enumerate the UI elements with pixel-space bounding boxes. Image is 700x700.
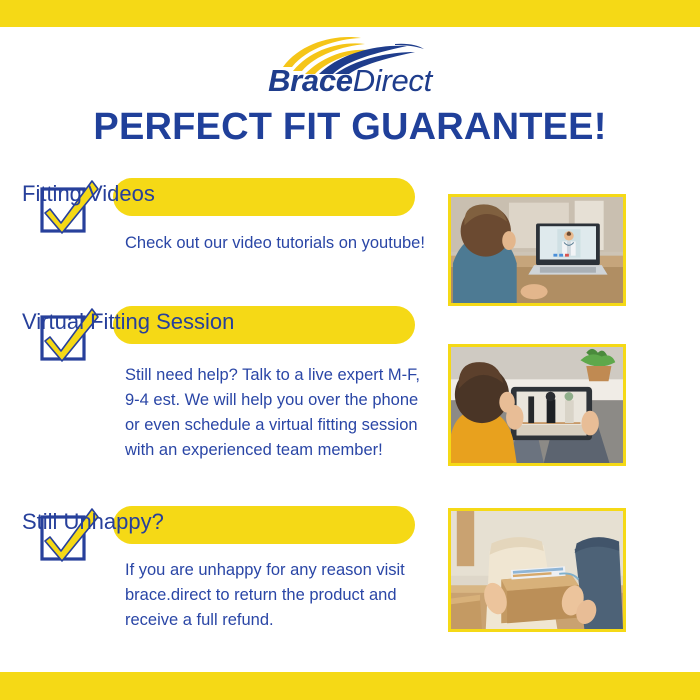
brand-wordmark: BraceDirect (0, 65, 700, 96)
section-body-text: Still need help? Talk to a live expert M… (125, 363, 435, 463)
brand-logo: BraceDirect (0, 34, 700, 96)
section-heading-label: Virtual Fitting Session (22, 309, 234, 335)
poster-canvas: BraceDirect PERFECT FIT GUARANTEE! Fitti… (0, 0, 700, 700)
brand-word-direct: Direct (353, 63, 432, 98)
section-heading-pill (113, 178, 415, 216)
photo-virtual-fitting-session (448, 344, 626, 466)
section-body-text: If you are unhappy for any reason visit … (125, 558, 435, 633)
page-title: PERFECT FIT GUARANTEE! (0, 108, 700, 148)
photo-illustration (451, 197, 623, 303)
photo-fitting-videos (448, 194, 626, 306)
bottom-yellow-band (0, 672, 700, 700)
photo-illustration (451, 347, 623, 463)
section-body-text: Check out our video tutorials on youtube… (125, 231, 435, 256)
top-yellow-band (0, 0, 700, 27)
photo-illustration (451, 511, 623, 629)
photo-return-package (448, 508, 626, 632)
brand-word-brace: Brace (268, 63, 353, 98)
section-heading-label: Fitting Videos (22, 181, 155, 207)
section-heading-label: Still Unhappy? (22, 509, 164, 535)
